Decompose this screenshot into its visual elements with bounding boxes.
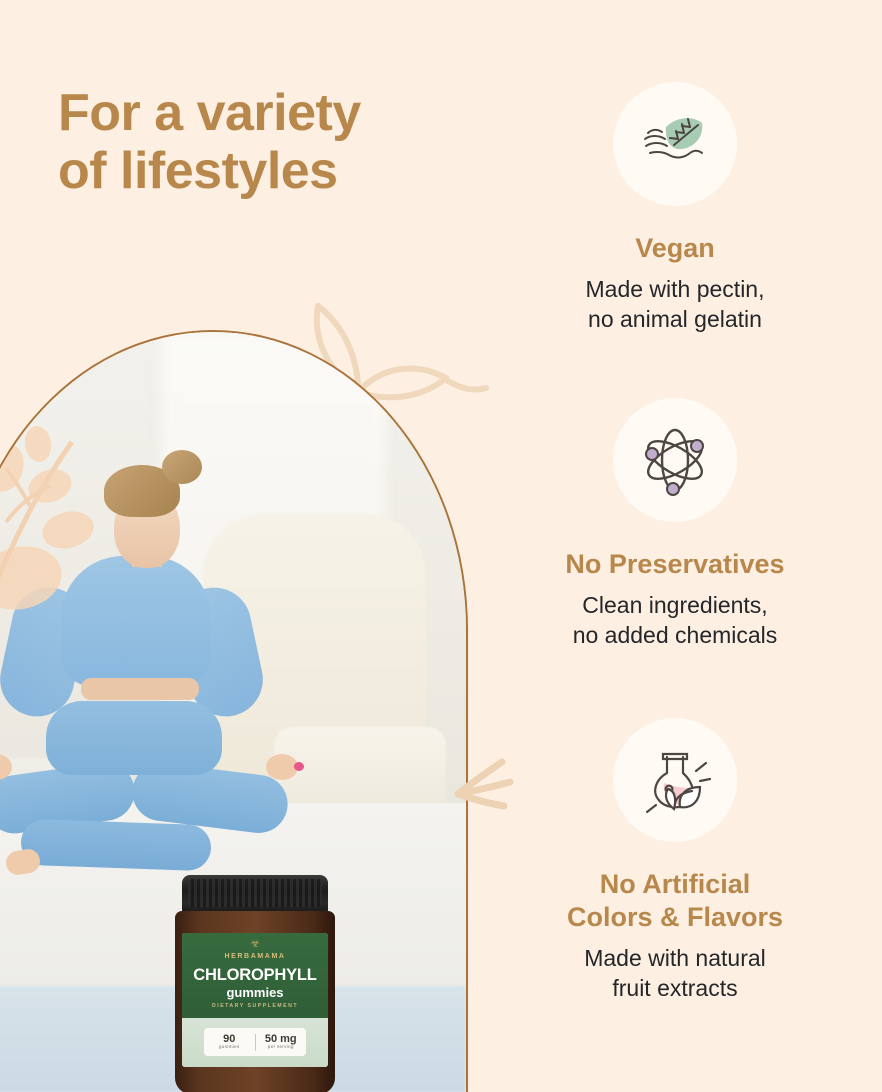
jar-cap — [182, 875, 328, 915]
flask-leaf-icon — [613, 718, 737, 842]
feature-title: No Preservatives — [468, 548, 882, 581]
hero-photo-arch: ☣ HERBAMAMA CHLOROPHYLL gummies DIETARY … — [0, 330, 468, 1092]
feature-item-no-artificial: No Artificial Colors & Flavors Made with… — [468, 718, 882, 1004]
feature-desc-line-2: no animal gelatin — [468, 304, 882, 334]
jar-spec-badge: 90 gummies 50 mg per serving — [204, 1028, 306, 1056]
feature-desc-line-1: Made with pectin, — [468, 274, 882, 304]
feature-list: Vegan Made with pectin, no animal gelati… — [468, 0, 882, 1092]
feature-description: Clean ingredients, no added chemicals — [468, 590, 882, 651]
feature-title-line-2: Colors & Flavors — [468, 901, 882, 934]
feature-title: No Artificial Colors & Flavors — [468, 868, 882, 934]
product-jar: ☣ HERBAMAMA CHLOROPHYLL gummies DIETARY … — [175, 875, 335, 1092]
feature-description: Made with natural fruit extracts — [468, 943, 882, 1004]
headline-line-2: of lifestyles — [58, 142, 478, 200]
page-title: For a variety of lifestyles — [58, 84, 478, 200]
jar-product-title: CHLOROPHYLL — [182, 966, 328, 985]
atom-icon — [613, 398, 737, 522]
brand-crest-icon: ☣ — [182, 939, 328, 950]
feature-desc-line-2: no added chemicals — [468, 620, 882, 650]
feature-title-line-1: No Artificial — [468, 868, 882, 901]
feature-desc-line-1: Clean ingredients, — [468, 590, 882, 620]
feature-desc-line-2: fruit extracts — [468, 973, 882, 1003]
jar-count-unit: gummies — [204, 1045, 255, 1050]
feature-title-line-1: No Preservatives — [468, 548, 882, 581]
headline-line-1: For a variety — [58, 84, 361, 142]
jar-dose-unit: per serving — [256, 1045, 307, 1050]
feature-description: Made with pectin, no animal gelatin — [468, 274, 882, 335]
feature-title-line-1: Vegan — [468, 232, 882, 265]
feature-desc-line-1: Made with natural — [468, 943, 882, 973]
jar-label: ☣ HERBAMAMA CHLOROPHYLL gummies DIETARY … — [182, 933, 328, 1067]
jar-brand: HERBAMAMA — [182, 953, 328, 960]
promo-page: For a variety of lifestyles — [0, 0, 882, 1092]
feature-item-vegan: Vegan Made with pectin, no animal gelati… — [468, 82, 882, 335]
jar-dietary-supplement-label: DIETARY SUPPLEMENT — [182, 1003, 328, 1009]
jar-product-subtitle: gummies — [182, 985, 328, 1000]
feature-item-no-preservatives: No Preservatives Clean ingredients, no a… — [468, 398, 882, 651]
feature-title: Vegan — [468, 232, 882, 265]
hand-holding-leaf-icon — [613, 82, 737, 206]
